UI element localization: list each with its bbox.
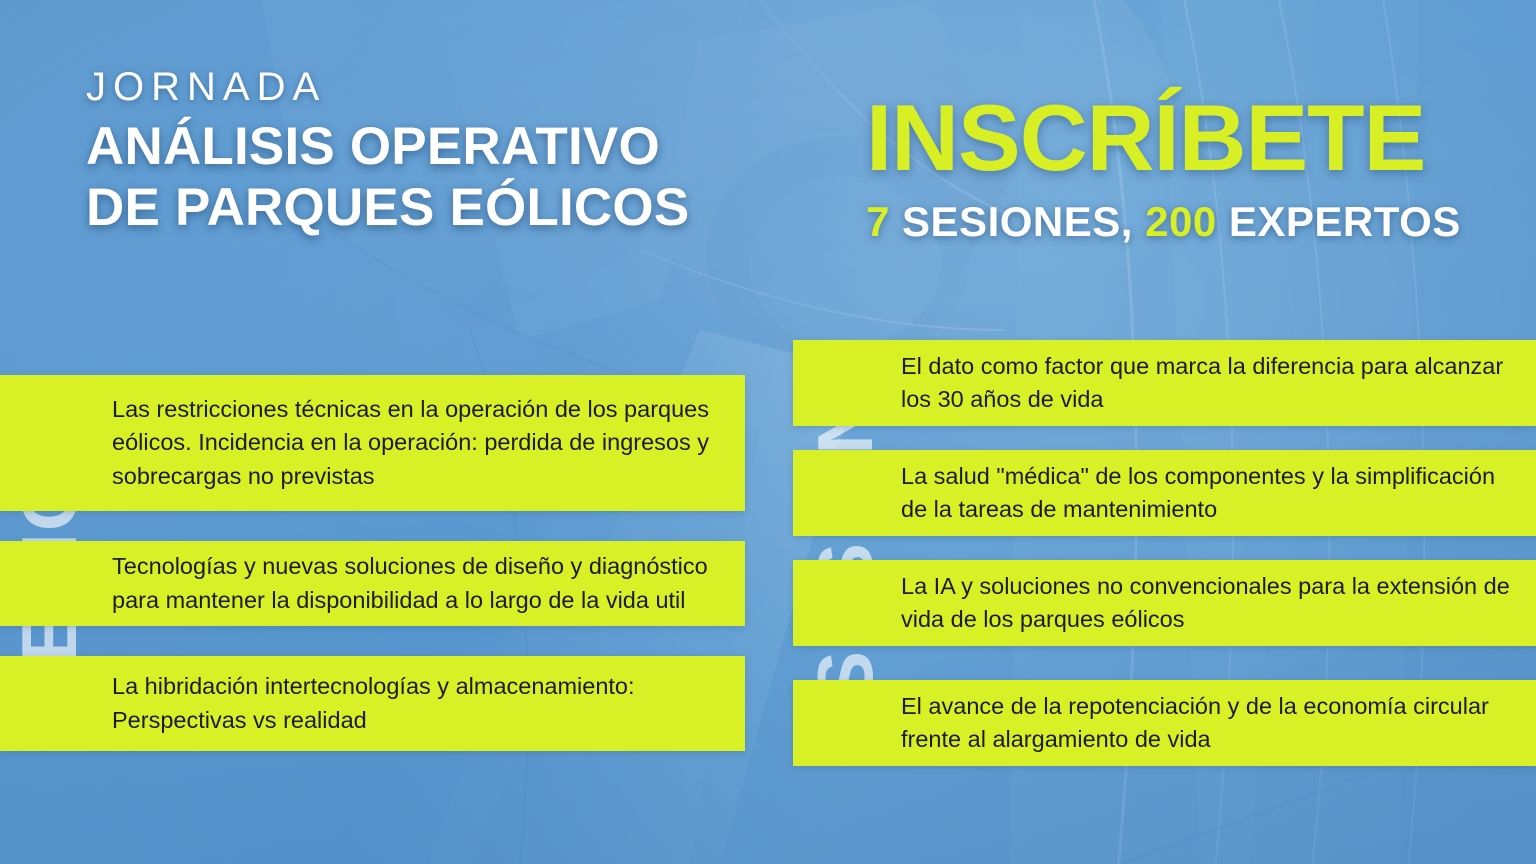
experts-count: 200 (1145, 198, 1217, 245)
session-card-text: El dato como factor que marca la diferen… (793, 350, 1536, 417)
session-card-text: Tecnologías y nuevas soluciones de diseñ… (0, 550, 745, 617)
session-card-text: La IA y soluciones no convencionales par… (793, 570, 1536, 637)
session-card[interactable]: Tecnologías y nuevas soluciones de diseñ… (0, 541, 745, 626)
session-card[interactable]: La hibridación intertecnologías y almace… (0, 656, 745, 751)
session-card-text: La salud "médica" de los componentes y l… (793, 460, 1536, 527)
page-title: ANÁLISIS OPERATIVO DE PARQUES EÓLICOS (86, 116, 689, 239)
page-title-line-1: ANÁLISIS OPERATIVO (86, 116, 689, 177)
session-card-text: La hibridación intertecnologías y almace… (0, 670, 657, 737)
experts-word: EXPERTOS (1217, 198, 1461, 245)
sessions-word: SESIONES, (890, 198, 1145, 245)
session-card-text: Las restricciones técnicas en la operaci… (0, 393, 745, 493)
sessions-experts-summary: 7 SESIONES, 200 EXPERTOS (866, 198, 1461, 246)
sessions-count: 7 (866, 198, 890, 245)
session-card[interactable]: Las restricciones técnicas en la operaci… (0, 375, 745, 511)
session-card-text: El avance de la repotenciación y de la e… (793, 690, 1536, 757)
session-card[interactable]: La IA y soluciones no convencionales par… (793, 560, 1536, 646)
event-kicker: JORNADA (86, 66, 689, 108)
registration-callout[interactable]: INSCRÍBETE 7 SESIONES, 200 EXPERTOS (866, 92, 1461, 246)
page-title-line-2: DE PARQUES EÓLICOS (86, 177, 689, 238)
session-card[interactable]: La salud "médica" de los componentes y l… (793, 450, 1536, 536)
event-heading: JORNADA ANÁLISIS OPERATIVO DE PARQUES EÓ… (86, 66, 689, 239)
session-card[interactable]: El avance de la repotenciación y de la e… (793, 680, 1536, 766)
session-card[interactable]: El dato como factor que marca la diferen… (793, 340, 1536, 426)
register-cta-label[interactable]: INSCRÍBETE (866, 92, 1461, 184)
